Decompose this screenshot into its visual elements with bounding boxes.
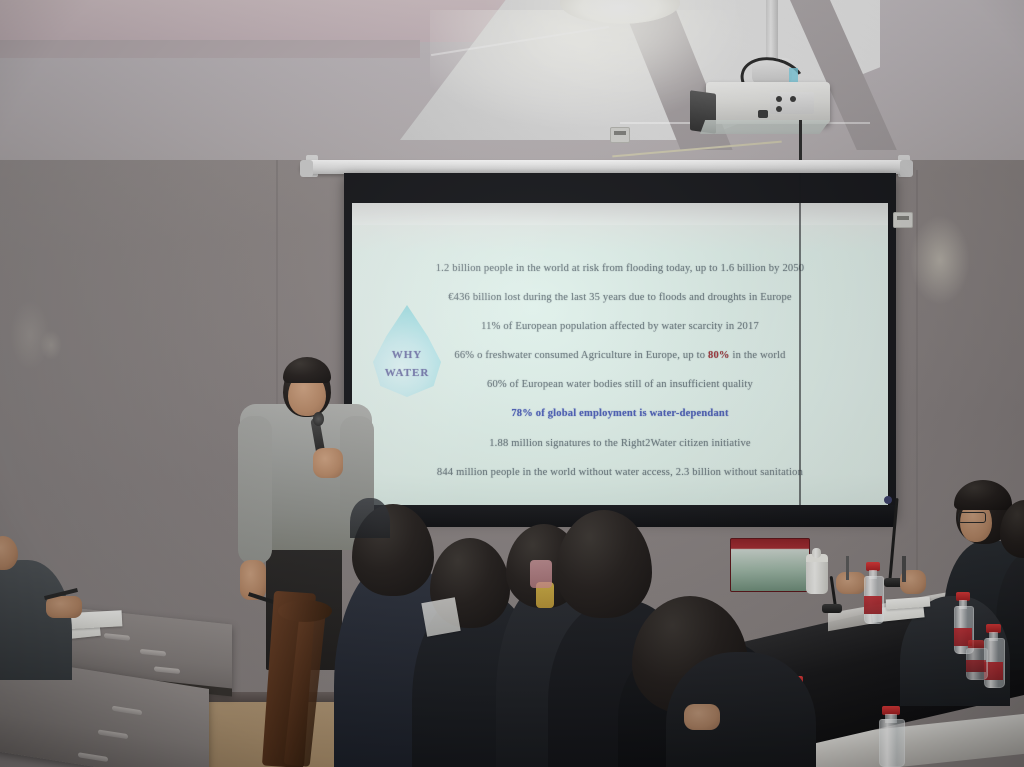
projector-port [758, 110, 768, 118]
wall-mark [40, 330, 62, 360]
logo-line-2: WATER [370, 367, 444, 379]
gooseneck-microphone-capsule [884, 496, 892, 504]
person-right-1-glasses [958, 512, 986, 523]
slide-line-1: 1.2 billion people in the world at risk … [352, 263, 888, 274]
small-pink-object [530, 560, 552, 588]
ceiling-band-secondary [0, 40, 420, 58]
paper-cup [806, 560, 828, 594]
lecture-hall-photo: WHY WATER 1.2 billion people in the worl… [0, 0, 1024, 767]
slide-line-7: 1.88 million signatures to the Right2Wat… [352, 438, 888, 449]
slide-line-2: €436 billion lost during the last 35 yea… [352, 292, 888, 303]
person-left-hand [46, 596, 82, 618]
projector-indicator-dot [776, 96, 782, 102]
slide-line-5: 60% of European water bodies still of an… [352, 379, 888, 390]
decorative-plaque [730, 538, 810, 592]
wall-socket-right[interactable] [893, 212, 913, 228]
water-bottle-1[interactable] [864, 562, 882, 624]
screen-vertical-seam [799, 173, 801, 518]
projector-indicator-dot-2 [790, 96, 796, 102]
audience-back-fragment [350, 498, 390, 538]
audience-2-collar [421, 597, 460, 636]
slide-line-4: 66% o freshwater consumed Agriculture in… [352, 350, 888, 361]
microphone-capsule [313, 412, 324, 426]
wooden-chair-crest [278, 600, 332, 622]
slide-line-4-pre: 66% o freshwater consumed Agriculture in… [454, 350, 708, 361]
slide-line-4-highlight: 80% [708, 350, 730, 361]
water-bottle-7[interactable] [966, 640, 986, 680]
projector-indicator-dot-3 [776, 106, 782, 112]
slide-line-4-post: in the world [730, 350, 786, 361]
slide-line-3: 11% of European population affected by w… [352, 321, 888, 332]
slide-line-8: 844 million people in the world without … [352, 467, 888, 478]
projector-underside [700, 120, 830, 134]
bottle-label [966, 660, 986, 672]
projection-screen-roller [300, 160, 912, 174]
wall-stain [910, 215, 970, 305]
roller-cap-right [900, 160, 913, 177]
bottle-label [864, 596, 882, 614]
water-bottle-6[interactable] [879, 706, 903, 767]
bottle-body [879, 719, 905, 767]
gooseneck-microphone-base-2 [822, 604, 842, 613]
presenter-left-sleeve [238, 416, 272, 564]
paper-cup-tab [812, 548, 821, 558]
person-right-4-pen [846, 556, 849, 580]
presenter-right-hand [313, 448, 343, 478]
slide-content: WHY WATER 1.2 billion people in the worl… [352, 203, 888, 511]
slide-line-6: 78% of global employment is water-depend… [352, 408, 888, 419]
roller-cap-left [300, 160, 313, 177]
audience-6-hand [684, 704, 720, 730]
person-right-3-pen [902, 556, 906, 582]
person-right-4-hand [836, 572, 866, 594]
wall-socket-upper[interactable] [610, 127, 630, 143]
ceiling [0, 0, 1024, 160]
